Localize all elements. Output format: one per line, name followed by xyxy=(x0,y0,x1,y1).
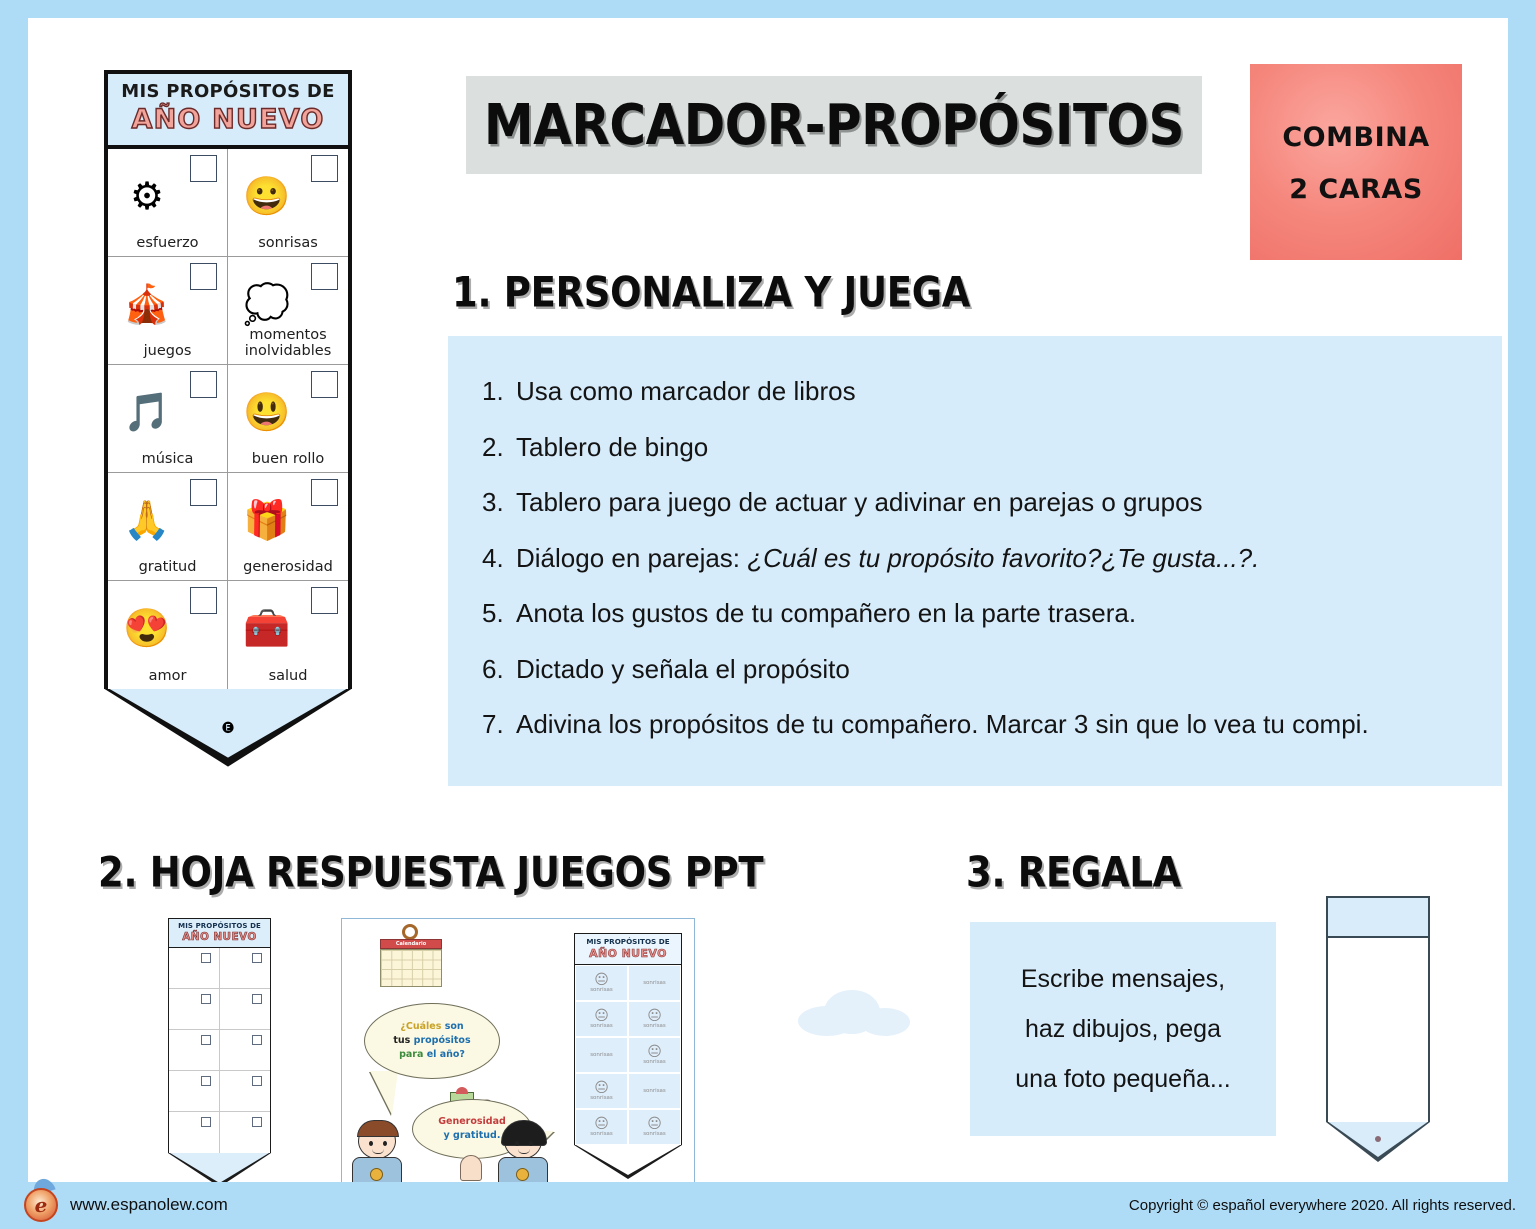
ppt-bookmark-cell: 😐sonrisas xyxy=(575,1073,628,1109)
bubble-a-line3-part1: para xyxy=(399,1049,423,1060)
bookmark-checkbox[interactable] xyxy=(190,155,217,182)
regala-line3: una foto pequeña... xyxy=(1015,1065,1230,1094)
bookmark-cell: 🎵música xyxy=(108,365,228,473)
ppt-bookmark: MIS PROPÓSITOS DE AÑO NUEVO 😐sonrisasson… xyxy=(574,933,682,1179)
bookmark-checkbox[interactable] xyxy=(311,371,338,398)
footer-website-link[interactable]: www.espanolew.com xyxy=(70,1195,228,1215)
step-item: 5.Anota los gustos de tu compañero en la… xyxy=(482,598,1476,629)
girl-eye-right xyxy=(529,1141,533,1146)
smiley-icon: 😐 xyxy=(594,1009,609,1023)
girl-uniform-crest xyxy=(516,1168,529,1181)
ppt-bookmark-grid: 😐sonrisassonrisas😐sonrisas😐sonrisassonri… xyxy=(575,965,681,1145)
ppt-bookmark-header-line1: MIS PROPÓSITOS DE xyxy=(576,937,680,946)
brand-logo-icon: 🅔 xyxy=(222,719,234,736)
smiley-hearts-icon: 😍 xyxy=(116,601,178,657)
bookmark-cell: 😍amor xyxy=(108,581,228,689)
bookmark-checkbox[interactable] xyxy=(190,587,217,614)
ppt-bookmark-cell-label: sonrisas xyxy=(643,1131,666,1137)
bookmark-cell-label: sonrisas xyxy=(228,236,348,252)
step-number: 6. xyxy=(482,654,516,685)
step-item: 6.Dictado y señala el propósito xyxy=(482,654,1476,685)
step-text: Usa como marcador de libros xyxy=(516,377,856,407)
toys-icon: 🎪 xyxy=(116,277,178,333)
boy-character xyxy=(358,1123,402,1189)
ppt-bookmark-cell-label: sonrisas xyxy=(590,1052,613,1058)
section3-heading: 3. REGALA xyxy=(966,848,1181,897)
bookmark-cell-label: esfuerzo xyxy=(108,236,227,252)
answer-sheet-checkbox[interactable] xyxy=(201,953,211,963)
girl-character xyxy=(504,1123,548,1189)
answer-sheet-checkbox[interactable] xyxy=(252,1076,262,1086)
smiley-happy-icon: 😀 xyxy=(236,169,298,225)
ppt-bookmark-header-line2: AÑO NUEVO xyxy=(576,947,680,960)
answer-sheet-header-line1: MIS PROPÓSITOS DE xyxy=(170,922,269,930)
bookmark-checkbox[interactable] xyxy=(311,155,338,182)
bookmark-header-line2: AÑO NUEVO xyxy=(112,105,344,135)
answer-sheet-checkbox[interactable] xyxy=(201,1076,211,1086)
step-number: 4. xyxy=(482,543,516,574)
calendar-title: Calendario xyxy=(380,939,442,949)
bookmark-header-line1: MIS PROPÓSITOS DE xyxy=(112,83,344,102)
bookmark-cell: 😀sonrisas xyxy=(228,149,348,257)
ppt-bookmark-cell: 😐sonrisas xyxy=(575,1001,628,1037)
answer-sheet-cell xyxy=(169,989,220,1030)
step-text: Tablero para juego de actuar y adivinar … xyxy=(516,488,1203,518)
step-item: 4.Diálogo en parejas: ¿Cuál es tu propós… xyxy=(482,543,1476,574)
cloud-decoration-icon xyxy=(798,986,910,1038)
blank-bookmark-header xyxy=(1328,898,1428,938)
cloud-puff-right xyxy=(860,1008,910,1036)
worksheet-page: MIS PROPÓSITOS DE AÑO NUEVO ⚙esfuerzo😀so… xyxy=(0,0,1536,1229)
ppt-bookmark-cell-label: sonrisas xyxy=(590,1095,613,1101)
step-item: 1.Usa como marcador de libros xyxy=(482,376,1476,407)
praying-hands-icon xyxy=(460,1155,482,1181)
bookmark-checkbox[interactable] xyxy=(190,371,217,398)
boy-mouth xyxy=(372,1149,384,1154)
espanolew-logo-icon: e xyxy=(24,1188,58,1222)
gear-check-icon: ⚙ xyxy=(116,169,178,225)
step-item: 3.Tablero para juego de actuar y adivina… xyxy=(482,487,1476,518)
blank-bookmark-tip xyxy=(1326,1122,1430,1162)
boy-hair xyxy=(357,1120,399,1137)
bubble-a-line1-part2: son xyxy=(445,1021,464,1032)
answer-sheet-checkbox[interactable] xyxy=(252,953,262,963)
bookmark-header: MIS PROPÓSITOS DE AÑO NUEVO xyxy=(108,74,348,149)
bookmark-checkbox[interactable] xyxy=(190,263,217,290)
bookmark-cell-label: momentosinolvidables xyxy=(228,328,348,359)
bookmark-checkbox[interactable] xyxy=(311,587,338,614)
step-number: 5. xyxy=(482,598,516,629)
answer-sheet-cell xyxy=(169,948,220,989)
bookmark-cell-label: juegos xyxy=(108,344,227,360)
bubble-b-line1: Generosidad xyxy=(438,1115,506,1129)
bookmark-cell-label: música xyxy=(108,452,227,468)
section1-steps-box: 1.Usa como marcador de libros2.Tablero d… xyxy=(448,336,1502,786)
answer-sheet-header: MIS PROPÓSITOS DE AÑO NUEVO xyxy=(169,919,270,948)
heart-thought-bubble-icon: 💭 xyxy=(236,277,298,333)
first-aid-kit-icon: 🧰 xyxy=(236,601,298,657)
speech-bubble-a-tail xyxy=(370,1071,398,1115)
answer-sheet-cell xyxy=(220,948,271,989)
bookmark-checkbox[interactable] xyxy=(311,263,338,290)
starburst-icon xyxy=(1250,64,1462,260)
bookmark-cell-label: salud xyxy=(228,669,348,685)
answer-sheet-grid xyxy=(169,948,270,1153)
bookmark-cell: 💭momentosinolvidables xyxy=(228,257,348,365)
ppt-bookmark-cell: sonrisas xyxy=(628,1073,681,1109)
step-text: Anota los gustos de tu compañero en la p… xyxy=(516,599,1136,629)
smiley-icon: 😐 xyxy=(594,973,609,987)
badge-line2: 2 CARAS xyxy=(1250,174,1462,205)
boy-eye-left xyxy=(369,1141,373,1146)
girl-mouth xyxy=(518,1149,530,1154)
ppt-bookmark-cell-label: sonrisas xyxy=(643,1023,666,1029)
ppt-bookmark-tip-fill xyxy=(576,1145,680,1175)
step-text: Dictado y señala el propósito xyxy=(516,655,850,685)
gift-bow xyxy=(456,1087,468,1094)
badge-line1: COMBINA xyxy=(1250,122,1462,153)
bookmark-cell: 🎪juegos xyxy=(108,257,228,365)
calendar-ring xyxy=(402,924,418,940)
ppt-bookmark-cell: sonrisas xyxy=(575,1037,628,1073)
ppt-slide-thumbnail: Calendario ¿Cuáles son tus propósitos pa… xyxy=(341,918,695,1190)
music-notes-icon: 🎵 xyxy=(116,385,178,441)
bookmark-cell-label: amor xyxy=(108,669,227,685)
smiley-icon: 😐 xyxy=(594,1117,609,1131)
blank-bookmark-back xyxy=(1326,896,1430,1162)
bookmark-tip: 🅔 xyxy=(104,689,352,767)
smiley-icon: 😐 xyxy=(647,1045,662,1059)
answer-sheet-cell xyxy=(169,1030,220,1071)
girl-hair xyxy=(501,1120,547,1146)
step-number: 3. xyxy=(482,487,516,518)
bookmark-cell: 🧰salud xyxy=(228,581,348,689)
bubble-a-line2-part2: propósitos xyxy=(414,1035,471,1046)
answer-sheet-checkbox[interactable] xyxy=(201,1035,211,1045)
answer-sheet-body: MIS PROPÓSITOS DE AÑO NUEVO xyxy=(168,918,271,1153)
bubble-b-line2: y gratitud. xyxy=(444,1129,501,1143)
answer-sheet-checkbox[interactable] xyxy=(252,994,262,1004)
page-canvas: MIS PROPÓSITOS DE AÑO NUEVO ⚙esfuerzo😀so… xyxy=(28,18,1508,1182)
bookmark-cell-label: gratitud xyxy=(108,560,227,576)
bubble-a-line1-part1: ¿Cuáles xyxy=(400,1021,441,1032)
ppt-bookmark-cell: 😐sonrisas xyxy=(575,1109,628,1145)
smiley-icon: 😐 xyxy=(647,1117,662,1131)
step-text: Adivina los propósitos de tu compañero. … xyxy=(516,710,1369,740)
page-footer: e www.espanolew.com Copyright © español … xyxy=(0,1182,1536,1229)
answer-sheet-checkbox[interactable] xyxy=(201,994,211,1004)
boy-uniform-crest xyxy=(370,1168,383,1181)
calendar-grid xyxy=(380,949,442,987)
boy-head xyxy=(358,1123,396,1159)
regala-line2: haz dibujos, pega xyxy=(1025,1015,1221,1044)
section2-heading: 2. HOJA RESPUESTA JUEGOS PPT xyxy=(98,848,763,897)
step-number: 2. xyxy=(482,432,516,463)
ppt-bookmark-cell: 😐sonrisas xyxy=(628,1109,681,1145)
answer-sheet-cell xyxy=(169,1112,220,1153)
bookmark-cell: 🙏gratitud xyxy=(108,473,228,581)
boy-eye-right xyxy=(383,1141,387,1146)
ppt-bookmark-cell-label: sonrisas xyxy=(590,987,613,993)
bookmark-checkbox[interactable] xyxy=(311,479,338,506)
step-number: 1. xyxy=(482,376,516,407)
ppt-bookmark-cell: sonrisas xyxy=(628,965,681,1001)
bookmark-cell: 🎁generosidad xyxy=(228,473,348,581)
ppt-bookmark-header: MIS PROPÓSITOS DE AÑO NUEVO xyxy=(575,934,681,965)
main-bookmark: MIS PROPÓSITOS DE AÑO NUEVO ⚙esfuerzo😀so… xyxy=(104,70,352,767)
step-text: Tablero de bingo xyxy=(516,433,708,463)
praying-hands-icon: 🙏 xyxy=(116,493,178,549)
bookmark-grid: ⚙esfuerzo😀sonrisas🎪juegos💭momentosinolvi… xyxy=(108,149,348,689)
answer-sheet-checkbox[interactable] xyxy=(201,1117,211,1127)
regala-line1: Escribe mensajes, xyxy=(1021,965,1225,994)
ppt-bookmark-body: MIS PROPÓSITOS DE AÑO NUEVO 😐sonrisasson… xyxy=(574,933,682,1145)
answer-sheet-checkbox[interactable] xyxy=(252,1035,262,1045)
smiley-icon: 😐 xyxy=(594,1081,609,1095)
ppt-bookmark-cell: 😐sonrisas xyxy=(628,1037,681,1073)
answer-sheet-thumbnail: MIS PROPÓSITOS DE AÑO NUEVO xyxy=(168,918,271,1187)
blank-bookmark-logo-dot xyxy=(1375,1136,1381,1142)
calendar-icon: Calendario xyxy=(380,933,442,987)
page-title: MARCADOR-PROPÓSITOS xyxy=(484,93,1184,158)
step-item: 2.Tablero de bingo xyxy=(482,432,1476,463)
answer-sheet-cell xyxy=(220,1071,271,1112)
answer-sheet-tip-fill xyxy=(170,1153,269,1183)
step-item: 7.Adivina los propósitos de tu compañero… xyxy=(482,709,1476,740)
blank-bookmark-writing-area xyxy=(1328,938,1428,1122)
ppt-bookmark-cell: 😐sonrisas xyxy=(628,1001,681,1037)
bookmark-body: MIS PROPÓSITOS DE AÑO NUEVO ⚙esfuerzo😀so… xyxy=(104,70,352,689)
smiley-icon: 😐 xyxy=(647,1009,662,1023)
girl-head xyxy=(504,1123,542,1159)
gift-hands-icon: 🎁 xyxy=(236,493,298,549)
blank-bookmark-body xyxy=(1326,896,1430,1122)
section3-text-box: Escribe mensajes, haz dibujos, pega una … xyxy=(970,922,1276,1136)
answer-sheet-cell xyxy=(220,989,271,1030)
combina-badge: COMBINA 2 CARAS xyxy=(1250,64,1462,260)
speech-bubble-a: ¿Cuáles son tus propósitos para el año? xyxy=(364,1003,500,1079)
bookmark-cell-label: generosidad xyxy=(228,560,348,576)
ppt-bookmark-cell: 😐sonrisas xyxy=(575,965,628,1001)
smiley-thumbsup-icon: 😃 xyxy=(236,385,298,441)
ppt-bookmark-tip xyxy=(574,1145,682,1179)
answer-sheet-cell xyxy=(220,1112,271,1153)
ppt-bookmark-cell-label: sonrisas xyxy=(590,1131,613,1137)
section1-heading: 1. PERSONALIZA Y JUEGA xyxy=(452,268,970,317)
step-text-italic: ¿Cuál es tu propósito favorito?¿Te gusta… xyxy=(747,543,1259,573)
bookmark-cell-label: buen rollo xyxy=(228,452,348,468)
ppt-bookmark-cell-label: sonrisas xyxy=(643,1059,666,1065)
footer-copyright: Copyright © español everywhere 2020. All… xyxy=(1129,1197,1516,1214)
logo-letter: e xyxy=(24,1188,58,1222)
answer-sheet-checkbox[interactable] xyxy=(252,1117,262,1127)
answer-sheet-header-line2: AÑO NUEVO xyxy=(170,931,269,943)
bookmark-checkbox[interactable] xyxy=(190,479,217,506)
bubble-a-line3-part2: el año? xyxy=(427,1049,465,1060)
step-number: 7. xyxy=(482,709,516,740)
answer-sheet-cell xyxy=(220,1030,271,1071)
step-text: Diálogo en parejas: ¿Cuál es tu propósit… xyxy=(516,544,1259,574)
ppt-bookmark-cell-label: sonrisas xyxy=(590,1023,613,1029)
bookmark-cell: ⚙esfuerzo xyxy=(108,149,228,257)
title-banner: MARCADOR-PROPÓSITOS xyxy=(466,76,1202,174)
ppt-bookmark-cell-label: sonrisas xyxy=(643,980,666,986)
girl-eye-left xyxy=(515,1141,519,1146)
answer-sheet-cell xyxy=(169,1071,220,1112)
bubble-a-line2-part1: tus xyxy=(393,1035,410,1046)
ppt-bookmark-cell-label: sonrisas xyxy=(643,1088,666,1094)
bookmark-cell: 😃buen rollo xyxy=(228,365,348,473)
